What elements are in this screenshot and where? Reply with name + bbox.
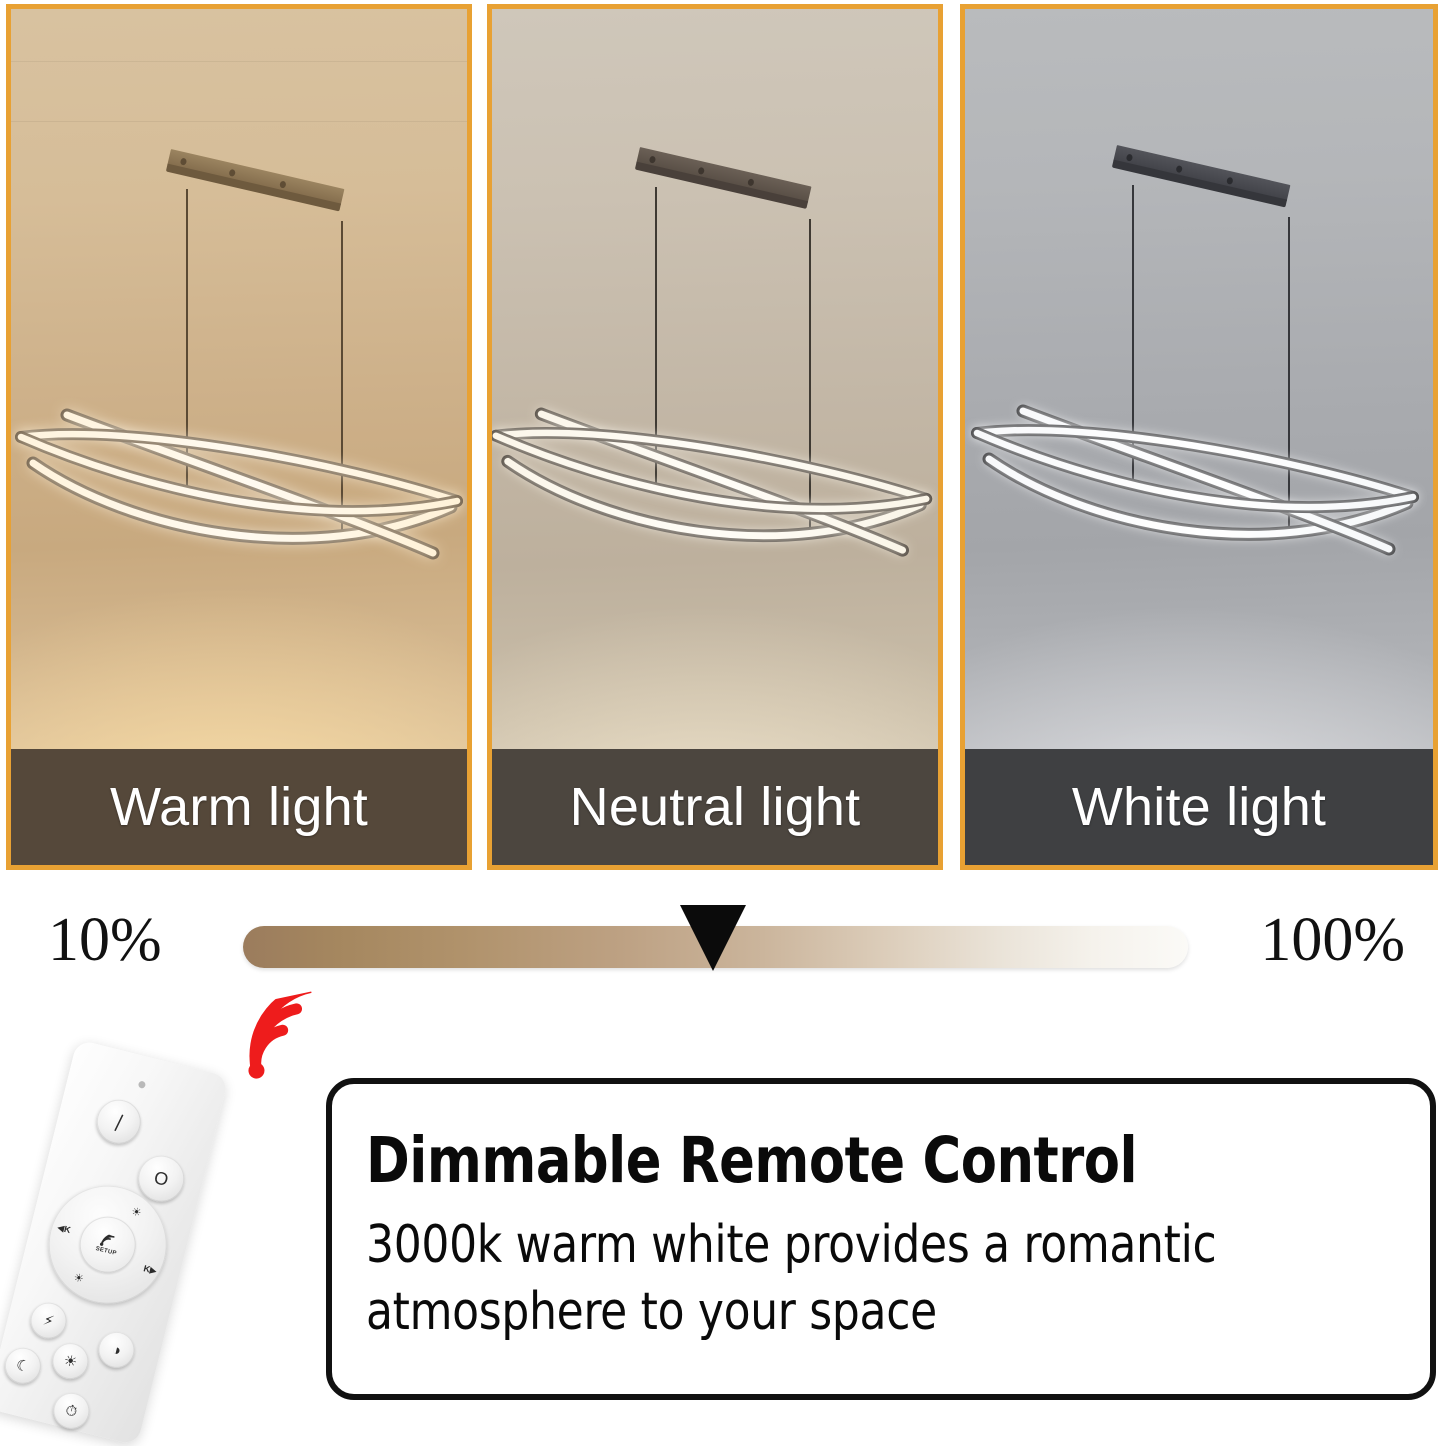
card-body-line-1: 3000k warm white provides a romantic — [366, 1214, 1330, 1277]
dimmer-max-label: 100% — [1260, 905, 1405, 976]
triangle-down-marker-icon[interactable] — [680, 905, 746, 971]
dpad-brightness-down-icon[interactable]: ☀ — [72, 1271, 85, 1286]
contrast-half-circle-icon: ◑ — [110, 1342, 122, 1359]
led-pendant-fixture — [492, 379, 938, 599]
dpad-kelvin-down-label[interactable]: ◀K — [56, 1222, 72, 1236]
label-bar-white: White light — [965, 749, 1433, 865]
brightness-button[interactable]: ☀ — [49, 1339, 93, 1383]
scene-warm — [11, 9, 467, 865]
card-body-line-2: atmosphere to your space — [366, 1281, 1330, 1344]
ceiling-canopy — [1117, 145, 1290, 185]
scene-white — [965, 9, 1433, 865]
flash-mode-icon: ⚡ — [42, 1312, 56, 1329]
panel-warm-light[interactable]: Warm light — [6, 4, 472, 870]
timer-clock-icon: ⏱ — [64, 1402, 79, 1419]
remote-control-illustration: | O ◀K K▶ ☀ ☀ SETUP — [18, 1000, 348, 1438]
panel-label: Neutral light — [570, 776, 861, 838]
ceiling-canopy — [640, 147, 811, 187]
panel-label: White light — [1072, 776, 1326, 838]
flash-mode-button[interactable]: ⚡ — [27, 1299, 71, 1343]
dpad-brightness-up-icon[interactable]: ☀ — [130, 1205, 143, 1220]
panel-white-light[interactable]: White light — [960, 4, 1438, 870]
scene-neutral — [492, 9, 938, 865]
contrast-button[interactable]: ◑ — [95, 1328, 139, 1372]
label-bar-neutral: Neutral light — [492, 749, 938, 865]
remote-body[interactable]: | O ◀K K▶ ☀ ☀ SETUP — [0, 1039, 229, 1445]
light-temperature-comparison: Warm light — [0, 0, 1445, 882]
timer-button[interactable]: ⏱ — [50, 1389, 94, 1433]
dimmer-min-label: 10% — [48, 905, 162, 976]
night-mode-button[interactable]: ☾ — [1, 1344, 45, 1388]
wifi-signal-icon — [223, 991, 327, 1083]
card-headline: Dimmable Remote Control — [366, 1128, 1320, 1194]
power-on-button[interactable]: | — [92, 1095, 145, 1148]
dimmer-slider-row[interactable]: 10% 100% — [0, 893, 1445, 1003]
panel-label: Warm light — [110, 776, 368, 838]
power-off-glyph: O — [152, 1168, 170, 1189]
panel-neutral-light[interactable]: Neutral light — [487, 4, 943, 870]
led-indicator-icon — [138, 1080, 146, 1088]
power-on-glyph: | — [112, 1112, 125, 1131]
dpad-setup-button[interactable]: SETUP — [74, 1211, 142, 1279]
night-mode-moon-icon: ☾ — [15, 1357, 32, 1375]
dpad-kelvin-up-label[interactable]: K▶ — [142, 1263, 158, 1277]
feature-text-card: Dimmable Remote Control 3000k warm white… — [326, 1078, 1436, 1400]
led-pendant-fixture — [965, 377, 1433, 597]
led-pendant-fixture — [11, 381, 467, 601]
ceiling-canopy — [171, 149, 344, 189]
label-bar-warm: Warm light — [11, 749, 467, 865]
brightness-sun-icon: ☀ — [62, 1352, 79, 1370]
